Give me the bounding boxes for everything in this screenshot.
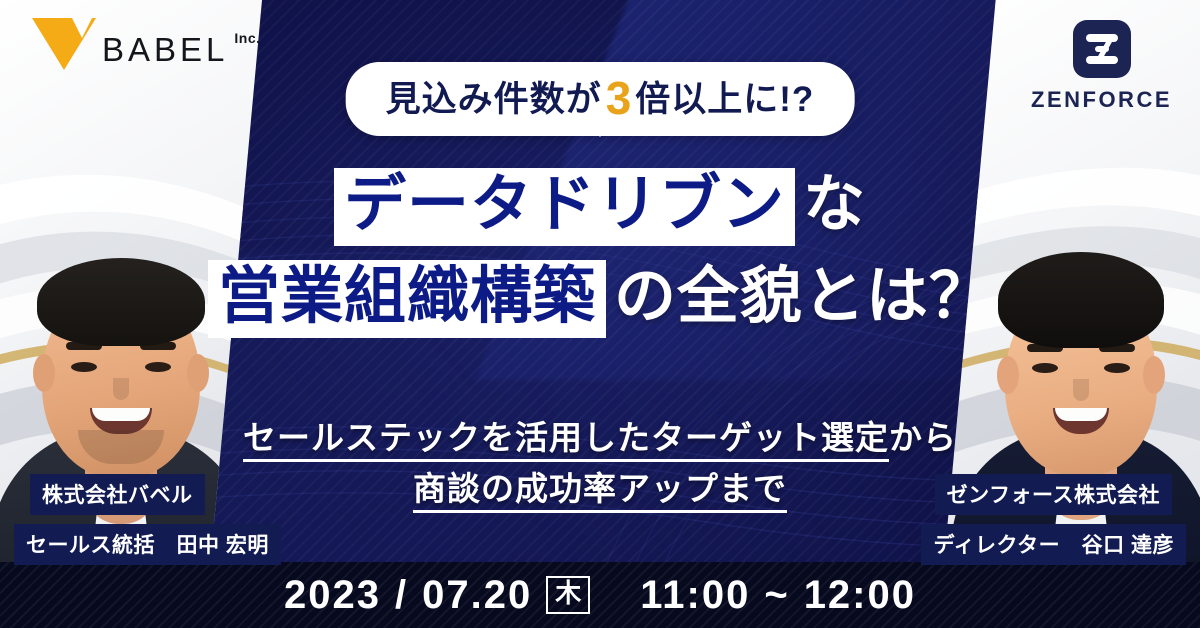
right-speaker-eye-right	[1104, 363, 1130, 373]
speaker-left-company: 株式会社バベル	[30, 474, 205, 515]
headline-highlight-2: 営業組織構築	[208, 260, 606, 338]
right-speaker-eye-left	[1032, 363, 1058, 373]
schedule-bar: 2023 / 07.20 木 11:00 ~ 12:00	[0, 562, 1200, 628]
headline-plain-2: の全貌とは？	[606, 266, 992, 328]
headline-plain-1: な	[795, 174, 866, 236]
subtitle-line-1: セールステックを活用したターゲット選定から	[0, 412, 1200, 463]
speaker-right-role-name: ディレクター 谷口 達彦	[921, 524, 1186, 565]
schedule-bar-content: 2023 / 07.20 木 11:00 ~ 12:00	[284, 573, 916, 618]
stat-badge-prefix: 見込み件数が	[386, 80, 602, 119]
babel-logo-suffix: Inc.	[234, 30, 260, 70]
subtitle-underline-1: セールステックを活用した	[243, 419, 651, 462]
subtitle-plain-1: から	[889, 419, 957, 456]
left-speaker-nose	[113, 378, 129, 400]
schedule-time-dash: ~	[764, 573, 789, 618]
schedule-time-start: 11:00	[640, 573, 750, 618]
webinar-banner: BABEL Inc. ZENFORCE 見込み件数が3倍以上に!? データドリブ…	[0, 0, 1200, 628]
subtitle-underline-3: 商談の成功率アップまで	[413, 470, 787, 513]
zenforce-logo: ZENFORCE	[1031, 20, 1172, 113]
stat-badge-suffix: 倍以上に!?	[635, 80, 814, 119]
headline-highlight-1: データドリブン	[334, 168, 795, 246]
speaker-left-role-name: セールス統括 田中 宏明	[14, 524, 281, 565]
schedule-time-end: 12:00	[804, 573, 916, 618]
zenforce-logo-text: ZENFORCE	[1031, 87, 1172, 113]
speaker-right-company: ゼンフォース株式会社	[935, 474, 1172, 515]
speaker-left-nameplate: 株式会社バベル セールス統括 田中 宏明	[14, 474, 281, 565]
headline-line-2: 営業組織構築の全貌とは？	[0, 260, 1200, 338]
stat-badge-pointer	[587, 122, 613, 137]
triangle-logo-icon	[32, 18, 96, 70]
right-speaker-nose	[1073, 379, 1089, 401]
schedule-day-of-week: 木	[546, 576, 590, 614]
schedule-year: 2023	[284, 573, 381, 618]
zenforce-mark-icon	[1073, 20, 1131, 78]
babel-logo-text: BABEL	[102, 33, 228, 70]
headline: データドリブンな 営業組織構築の全貌とは？	[0, 168, 1200, 352]
left-speaker-ear-right	[187, 354, 209, 392]
right-speaker-ear-right	[1143, 356, 1165, 394]
subtitle-underline-2: ターゲット選定	[651, 419, 889, 462]
headline-line-1: データドリブンな	[0, 168, 1200, 246]
babel-logo: BABEL Inc.	[32, 18, 261, 70]
left-speaker-ear-left	[33, 354, 55, 392]
schedule-date: 07.20	[422, 573, 532, 618]
left-speaker-eye-left	[71, 362, 97, 372]
speaker-right-nameplate: ゼンフォース株式会社 ディレクター 谷口 達彦	[921, 474, 1186, 565]
left-speaker-eye-right	[145, 362, 171, 372]
right-speaker-ear-left	[997, 356, 1019, 394]
schedule-separator: /	[395, 573, 408, 618]
stat-badge-number: 3	[602, 72, 636, 124]
